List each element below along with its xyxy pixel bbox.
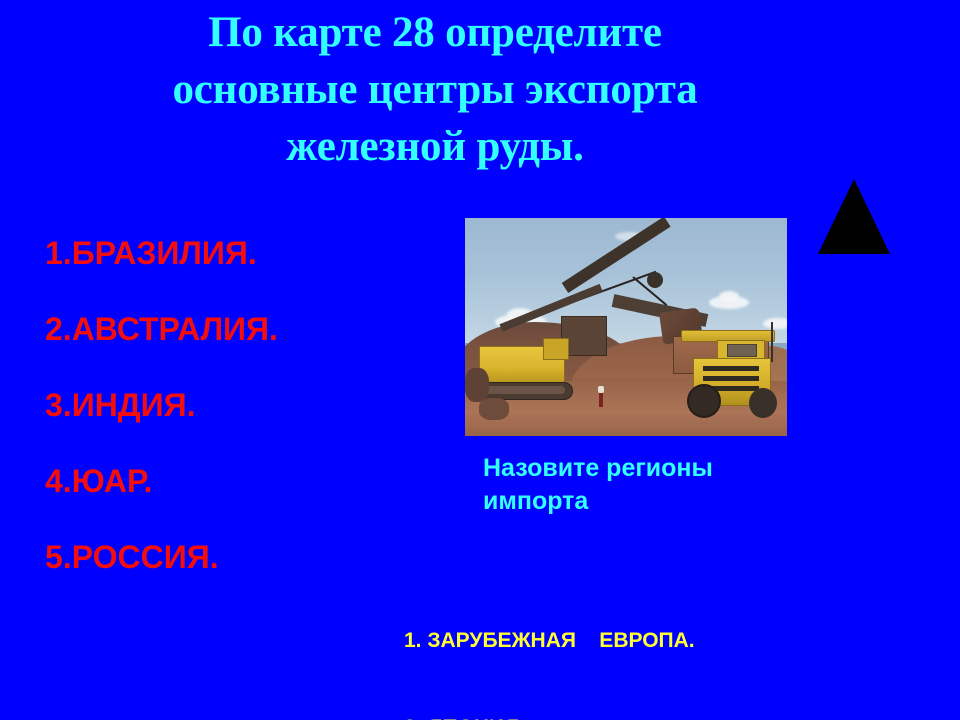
photo-truck-grill xyxy=(703,366,759,371)
page-title: По карте 28 определите основные центры э… xyxy=(40,4,830,175)
list-item: 3.ИНДИЯ. xyxy=(45,367,445,443)
list-item: 1.БРАЗИЛИЯ. xyxy=(45,215,445,291)
photo-rock xyxy=(465,368,489,402)
photo-excavator-cab xyxy=(543,338,569,360)
photo-pit-floor-shadow xyxy=(465,414,787,436)
import-prompt-line-1: Назовите регионы xyxy=(483,452,783,485)
import-prompt-line-2: импорта xyxy=(483,485,783,518)
photo-cloud xyxy=(763,318,787,329)
photo-worker-helmet xyxy=(598,386,604,393)
photo-rock xyxy=(479,398,509,420)
iron-ore-mine-photo xyxy=(465,218,787,436)
presentation-slide: По карте 28 определите основные центры э… xyxy=(0,0,960,720)
photo-excavator-track-detail xyxy=(483,386,565,394)
photo-truck-mast xyxy=(771,322,773,362)
list-item: 2.АВСТРАЛИЯ. xyxy=(45,291,445,367)
photo-canvas xyxy=(465,218,787,436)
photo-truck-window xyxy=(727,344,757,357)
list-item: 4.ЮАР. xyxy=(45,443,445,519)
photo-truck-front-wheel xyxy=(687,384,721,418)
title-line-2: основные центры экспорта xyxy=(40,61,830,118)
list-item: 5.РОССИЯ. xyxy=(45,519,445,595)
list-item: 1. ЗАРУБЕЖНАЯ ЕВРОПА. xyxy=(404,626,960,655)
title-line-1: По карте 28 определите xyxy=(40,4,830,61)
export-centers-list: 1.БРАЗИЛИЯ. 2.АВСТРАЛИЯ. 3.ИНДИЯ. 4.ЮАР.… xyxy=(45,215,445,595)
import-regions-prompt: Назовите регионы импорта xyxy=(483,452,783,518)
photo-truck-rear-wheel xyxy=(749,388,777,418)
photo-worker-body xyxy=(599,393,603,407)
title-line-3: железной руды. xyxy=(40,118,830,175)
photo-excavator-sheave xyxy=(647,272,663,288)
import-regions-list: 1. ЗАРУБЕЖНАЯ ЕВРОПА. 2. ЯПОНИЯ. 3. США. xyxy=(404,568,960,720)
black-triangle-icon xyxy=(818,179,890,254)
photo-cloud xyxy=(719,291,739,302)
photo-truck-grill xyxy=(703,376,759,381)
list-item: 2. ЯПОНИЯ. xyxy=(404,713,960,720)
